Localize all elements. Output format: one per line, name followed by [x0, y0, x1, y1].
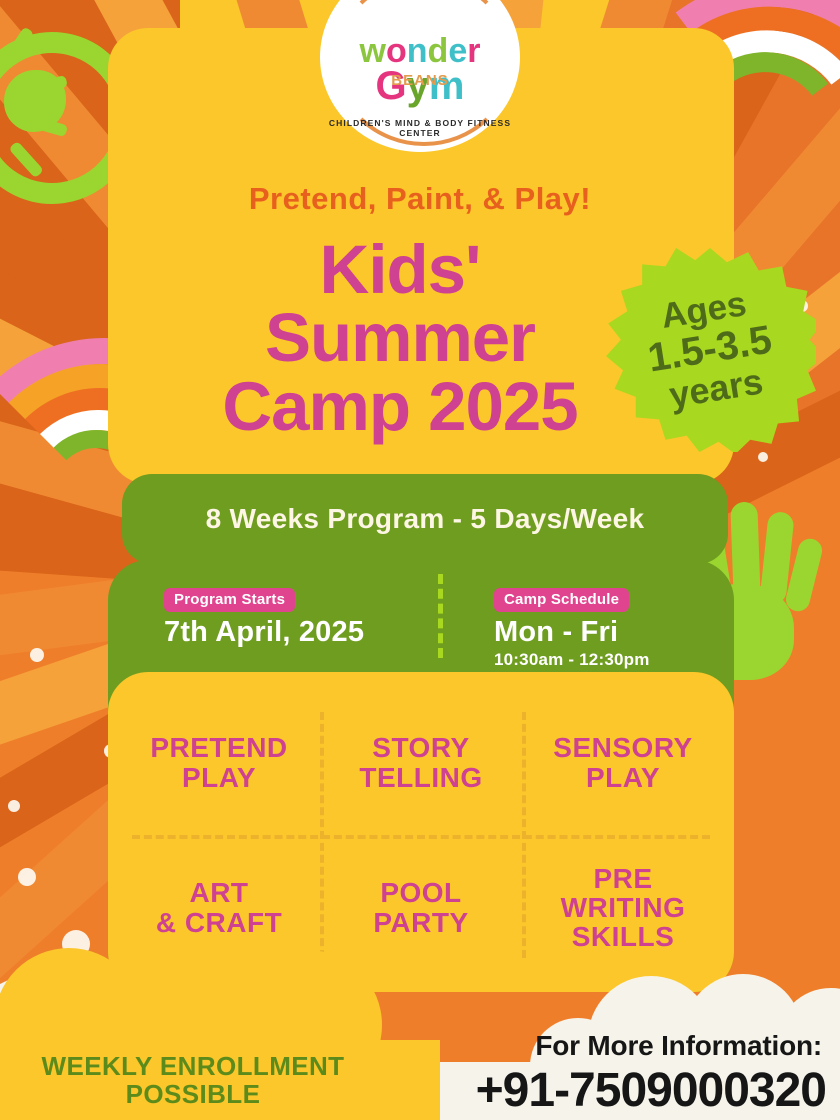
poster-canvas: wonder Gym BEANS CHILDREN'S MIND & BODY … [0, 0, 840, 1120]
brand-logo: wonder Gym BEANS CHILDREN'S MIND & BODY … [320, 0, 520, 152]
activities-divider-horizontal [132, 835, 710, 839]
camp-schedule-hours: 10:30am - 12:30pm [494, 650, 650, 670]
age-badge: Ages 1.5-3.5 years [604, 248, 816, 452]
program-band-text: 8 Weeks Program - 5 Days/Week [122, 474, 728, 564]
weekly-enrollment-text: WEEKLY ENROLLMENTPOSSIBLE [28, 1052, 358, 1108]
more-information-label: For More Information: [535, 1030, 822, 1062]
camp-schedule-label: Camp Schedule [494, 588, 629, 612]
logo-wordmark-wonder: wonder [320, 34, 520, 68]
logo-sub: BEANS [320, 72, 520, 89]
logo-tagline: CHILDREN'S MIND & BODY FITNESS CENTER [320, 118, 520, 138]
title-line-1: Kids' [150, 236, 650, 304]
title-line-2: Summer [150, 304, 650, 372]
schedule-row: Program Starts 7th April, 2025 Camp Sche… [108, 560, 734, 672]
camp-schedule-days: Mon - Fri [494, 616, 650, 649]
schedule-timing: Camp Schedule Mon - Fri 10:30am - 12:30p… [494, 588, 650, 670]
activity-cell: SENSORYPLAY [522, 690, 724, 835]
title-line-3: Camp 2025 [150, 373, 650, 441]
tagline: Pretend, Paint, & Play! [0, 181, 840, 217]
program-starts-label: Program Starts [164, 588, 295, 612]
activity-cell: PRETENDPLAY [118, 690, 320, 835]
activities-grid: PRETENDPLAY STORYTELLING SENSORYPLAY ART… [118, 690, 724, 980]
activity-cell: POOLPARTY [320, 835, 522, 980]
activity-cell: PREWRITINGSKILLS [522, 835, 724, 980]
page-title: Kids' Summer Camp 2025 [150, 236, 650, 441]
program-starts-value: 7th April, 2025 [164, 616, 364, 649]
schedule-start: Program Starts 7th April, 2025 [164, 588, 364, 649]
activity-cell: STORYTELLING [320, 690, 522, 835]
phone-number: +91-7509000320 [476, 1063, 826, 1118]
schedule-divider [438, 574, 443, 658]
